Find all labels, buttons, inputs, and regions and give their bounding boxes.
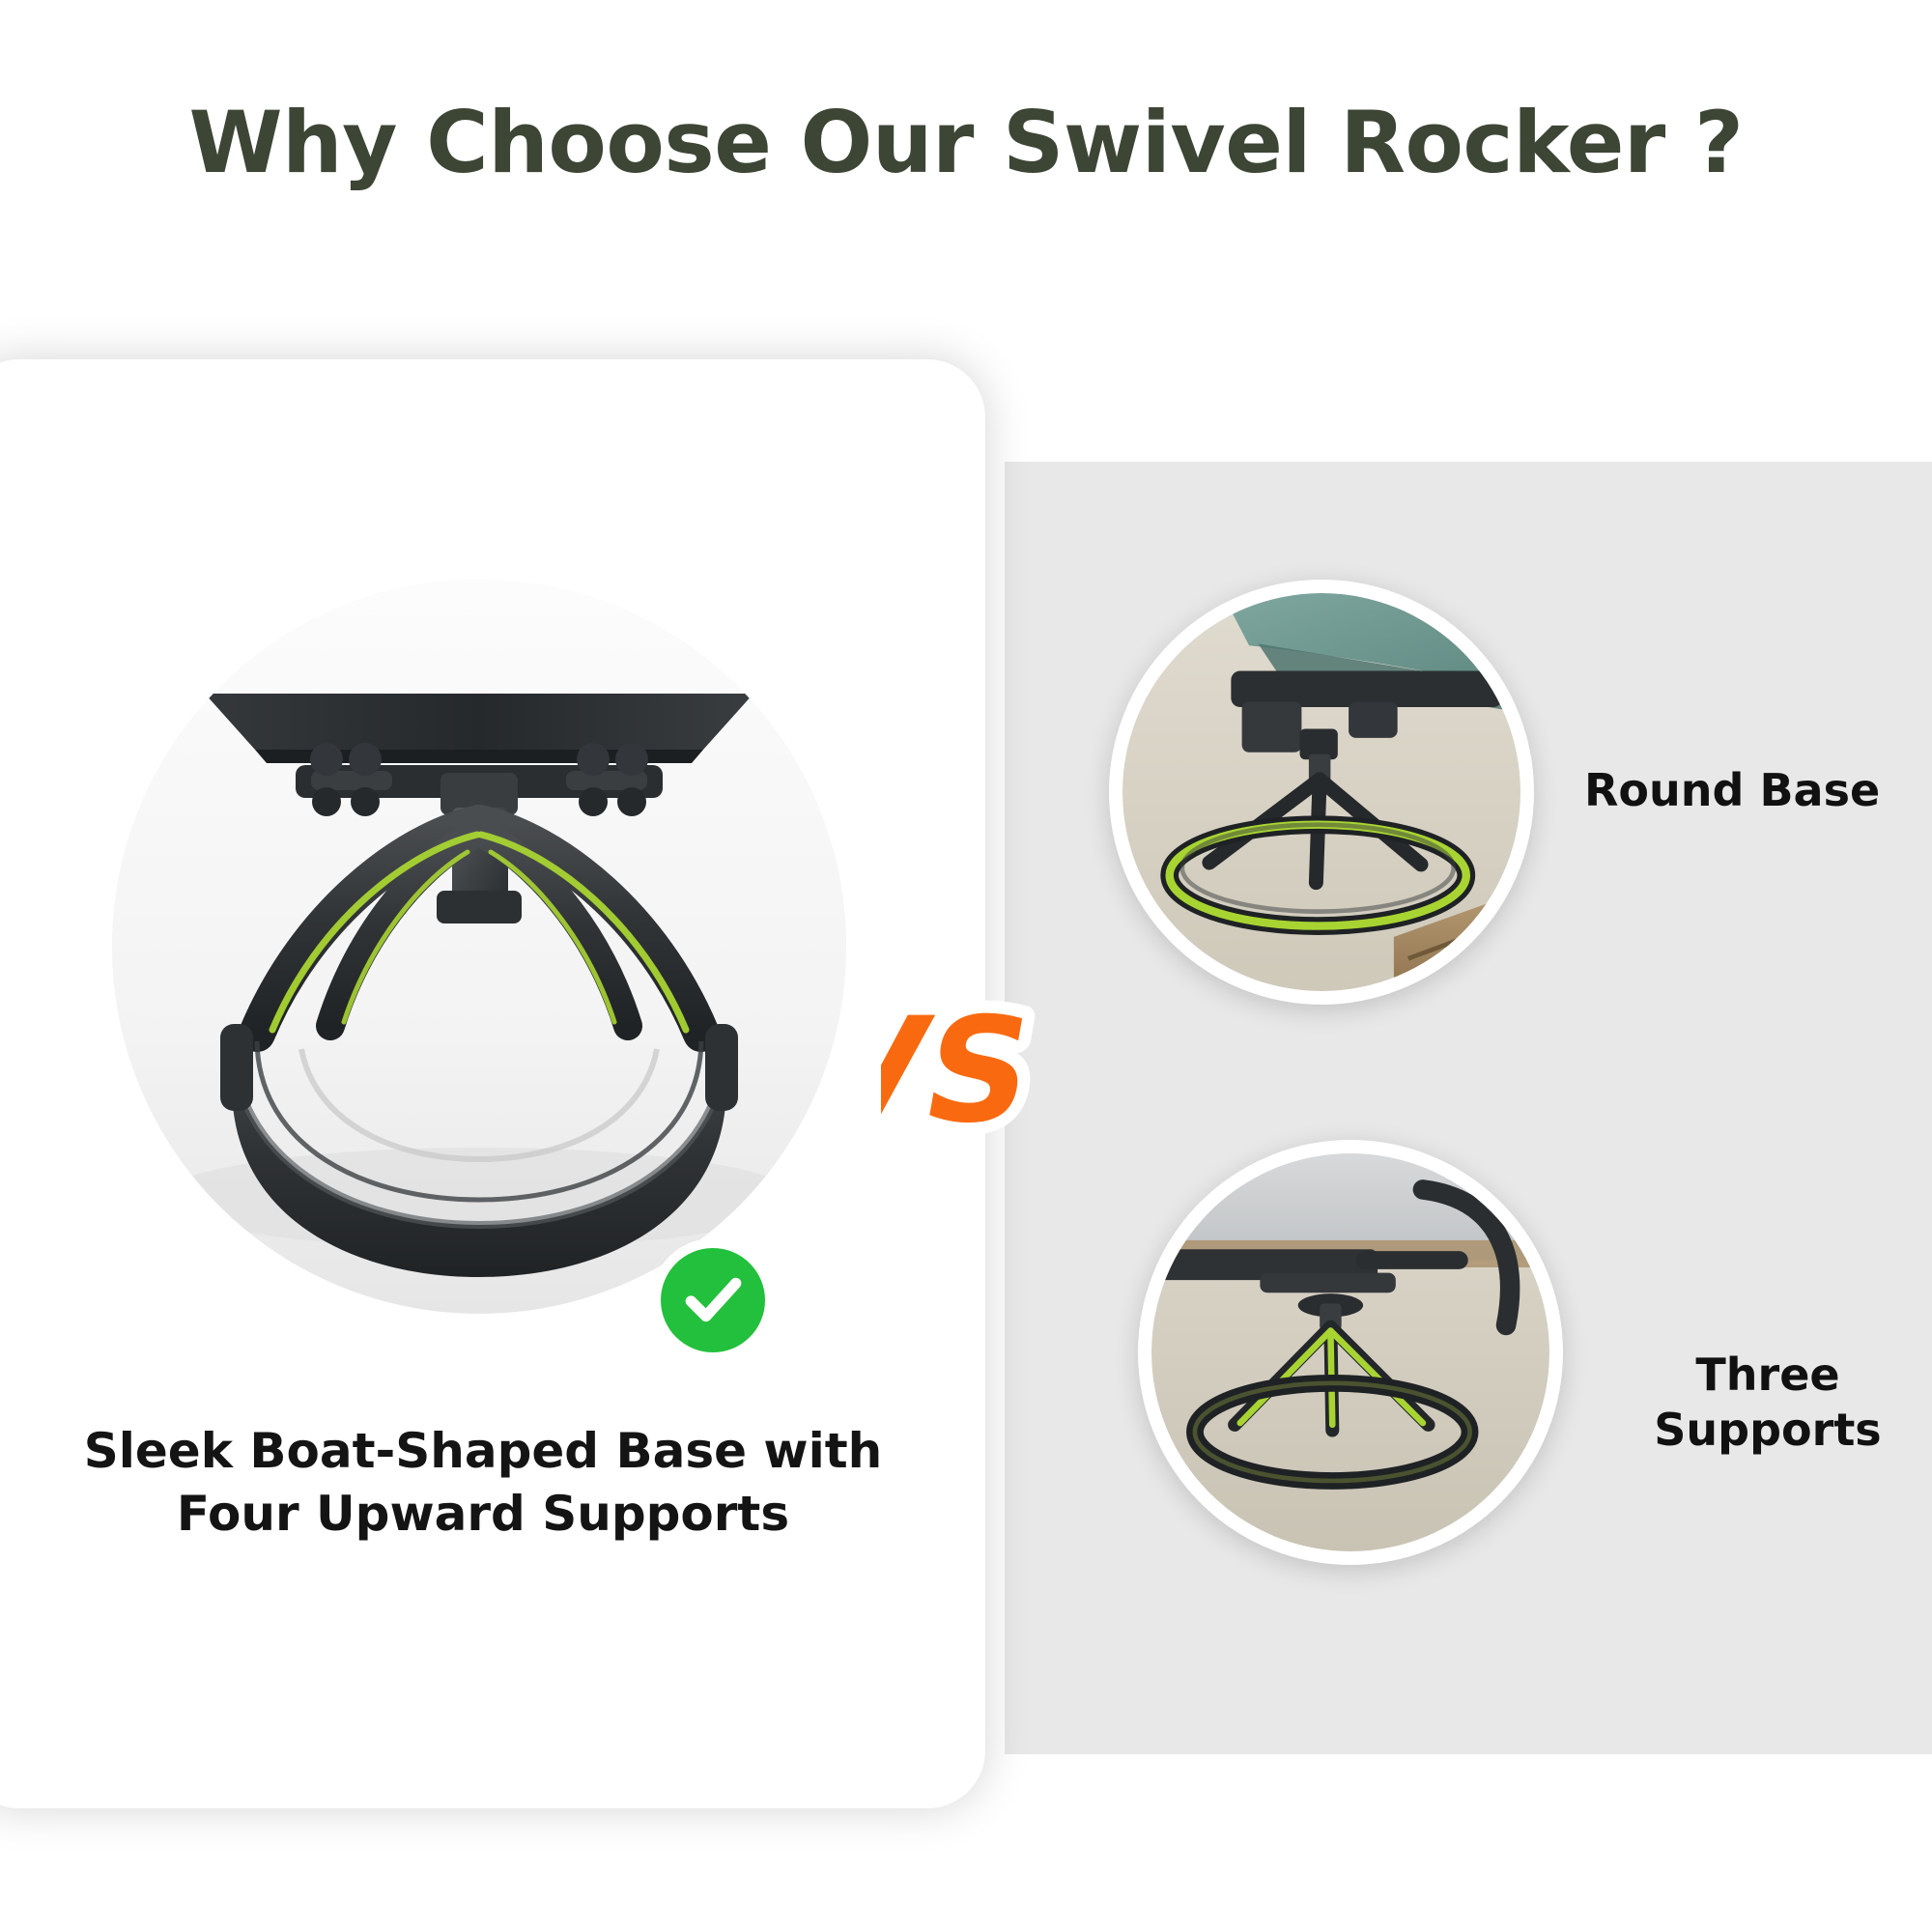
- svg-text:VS: VS: [881, 986, 1045, 1155]
- our-base-photo: [112, 580, 846, 1314]
- approved-check-badge: [661, 1248, 765, 1352]
- page-title: Why Choose Our Swivel Rocker ?: [0, 93, 1932, 192]
- vs-badge: VS VS: [881, 976, 1103, 1169]
- our-product-caption: Sleek Boat-Shaped Base with Four Upward …: [58, 1420, 908, 1546]
- round-base-label: Round Base: [1584, 763, 1913, 818]
- round-base-photo: [1109, 580, 1534, 1005]
- three-supports-label: Three Supports: [1623, 1348, 1913, 1458]
- check-icon: [681, 1268, 745, 1332]
- three-supports-photo: [1138, 1140, 1563, 1565]
